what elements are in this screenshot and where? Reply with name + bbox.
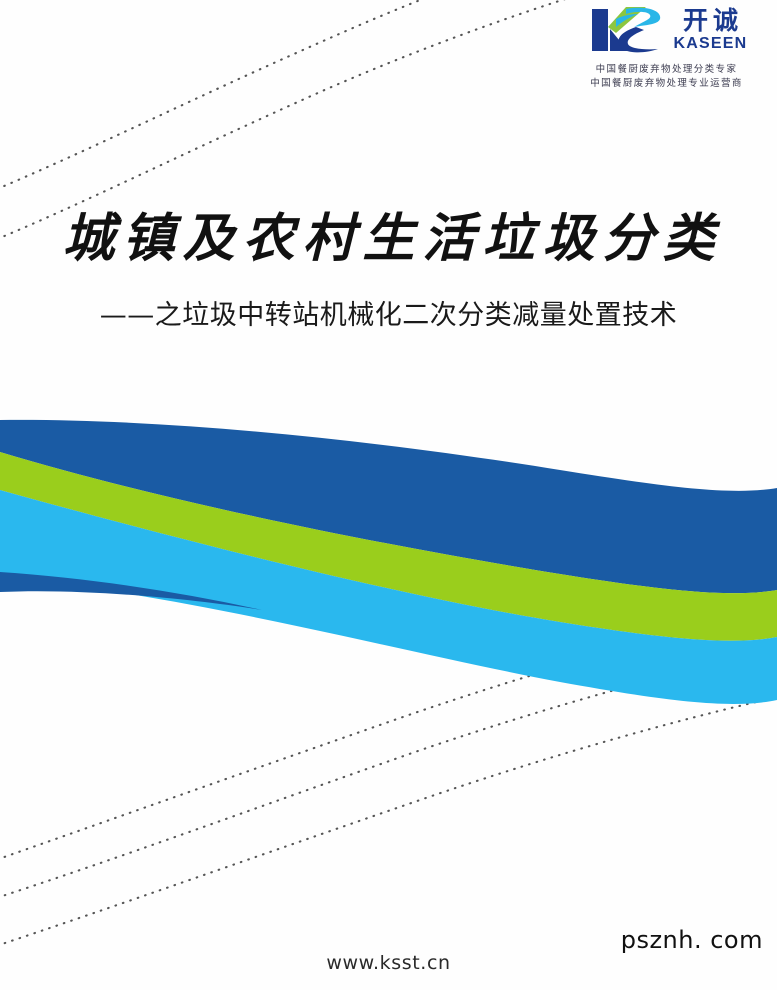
company-name-en: KASEEN — [674, 36, 748, 52]
dotted-arc-top-1 — [0, 0, 620, 192]
wave-ribbon-graphic — [0, 0, 777, 990]
tagline-line-2: 中国餐厨废弃物处理专业运营商 — [574, 77, 759, 91]
company-tagline: 中国餐厨废弃物处理分类专家 中国餐厨废弃物处理专业运营商 — [574, 63, 759, 91]
wave-band-cyan — [0, 490, 777, 704]
watermark-text: psznh. com — [621, 926, 763, 954]
cover-title: 城镇及农村生活垃圾分类 — [0, 196, 777, 271]
footer-website-url[interactable]: www.ksst.cn — [0, 952, 777, 974]
dotted-arc-bottom-3 — [0, 608, 777, 862]
dotted-arc-bottom-1 — [0, 692, 777, 948]
cover-page: 开诚 KASEEN 中国餐厨废弃物处理分类专家 中国餐厨废弃物处理专业运营商 城… — [0, 0, 777, 990]
logo-mark-row: 开诚 KASEEN — [574, 4, 759, 56]
tagline-line-1: 中国餐厨废弃物处理分类专家 — [574, 63, 759, 77]
company-logo-block: 开诚 KASEEN 中国餐厨废弃物处理分类专家 中国餐厨废弃物处理专业运营商 — [574, 4, 759, 91]
wave-band-navy — [0, 420, 777, 593]
cover-subtitle: ——之垃圾中转站机械化二次分类减量处置技术 — [0, 293, 777, 332]
wave-band-navy-wedge — [0, 572, 262, 610]
background-dotted-arcs — [0, 0, 777, 990]
company-name-cn: 开诚 — [678, 9, 743, 34]
wave-band-green — [0, 452, 777, 641]
dotted-arc-bottom-2 — [0, 645, 777, 900]
ks-monogram-icon — [586, 5, 668, 55]
logo-wordmark: 开诚 KASEEN — [674, 9, 748, 52]
